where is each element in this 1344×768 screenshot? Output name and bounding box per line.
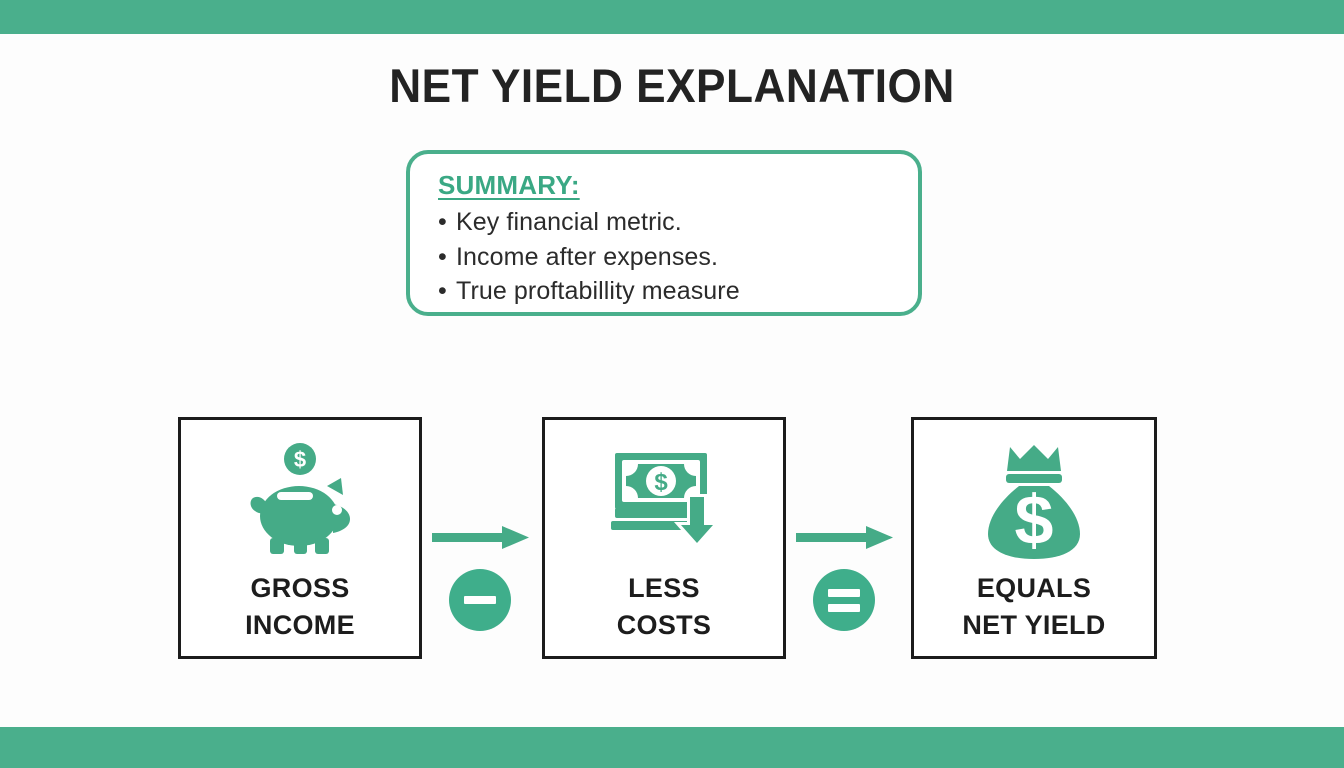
svg-text:$: $ (1015, 481, 1054, 559)
equals-bar-top (828, 589, 860, 597)
flow-diagram: $ GROSS (0, 417, 1344, 662)
flow-card-less-costs-label: LESS COSTS (545, 570, 783, 644)
flow-card-net-yield-label: EQUALS NET YIELD (914, 570, 1154, 644)
equals-bar-bottom (828, 604, 860, 612)
summary-content: SUMMARY: • Key financial metric. • Incom… (438, 170, 904, 309)
label-line-1: LESS (545, 570, 783, 607)
arrow-right-icon (432, 523, 532, 553)
summary-bullet-1: • Key financial metric. (438, 205, 904, 240)
flow-card-less-costs: $ LESS COSTS (542, 417, 786, 659)
summary-bullet-3-text: True proftabillity measure (456, 274, 740, 309)
summary-heading: SUMMARY: (438, 170, 904, 201)
svg-text:$: $ (654, 469, 668, 496)
summary-box: SUMMARY: • Key financial metric. • Incom… (406, 150, 922, 316)
label-line-2: INCOME (181, 607, 419, 644)
equals-icon (813, 569, 875, 631)
flow-connector-equals (786, 417, 906, 659)
slide: NET YIELD EXPLANATION SUMMARY: • Key fin… (0, 0, 1344, 768)
piggy-bank-icon: $ (181, 440, 419, 562)
flow-card-gross-income: $ GROSS (178, 417, 422, 659)
banknote-down-arrow-icon: $ (545, 440, 783, 562)
summary-bullet-2-text: Income after expenses. (456, 240, 718, 275)
money-bag-icon: $ (914, 440, 1154, 562)
page-title: NET YIELD EXPLANATION (40, 58, 1303, 113)
summary-bullet-2: • Income after expenses. (438, 240, 904, 275)
summary-bullet-3: • True proftabillity measure (438, 274, 904, 309)
label-line-2: COSTS (545, 607, 783, 644)
label-line-1: GROSS (181, 570, 419, 607)
arrow-right-icon (796, 523, 896, 553)
bullet-dot-icon: • (438, 240, 456, 275)
top-accent-band (0, 0, 1344, 34)
flow-connector-minus (422, 417, 542, 659)
slide-canvas: NET YIELD EXPLANATION SUMMARY: • Key fin… (0, 34, 1344, 727)
minus-bar (464, 596, 496, 604)
bottom-accent-band (0, 727, 1344, 768)
label-line-1: EQUALS (914, 570, 1154, 607)
flow-card-gross-income-label: GROSS INCOME (181, 570, 419, 644)
label-line-2: NET YIELD (914, 607, 1154, 644)
svg-text:$: $ (294, 447, 306, 472)
bullet-dot-icon: • (438, 205, 456, 240)
bullet-dot-icon: • (438, 274, 456, 309)
flow-card-net-yield: $ EQUALS NET YIELD (911, 417, 1157, 659)
summary-bullet-1-text: Key financial metric. (456, 205, 682, 240)
minus-icon (449, 569, 511, 631)
